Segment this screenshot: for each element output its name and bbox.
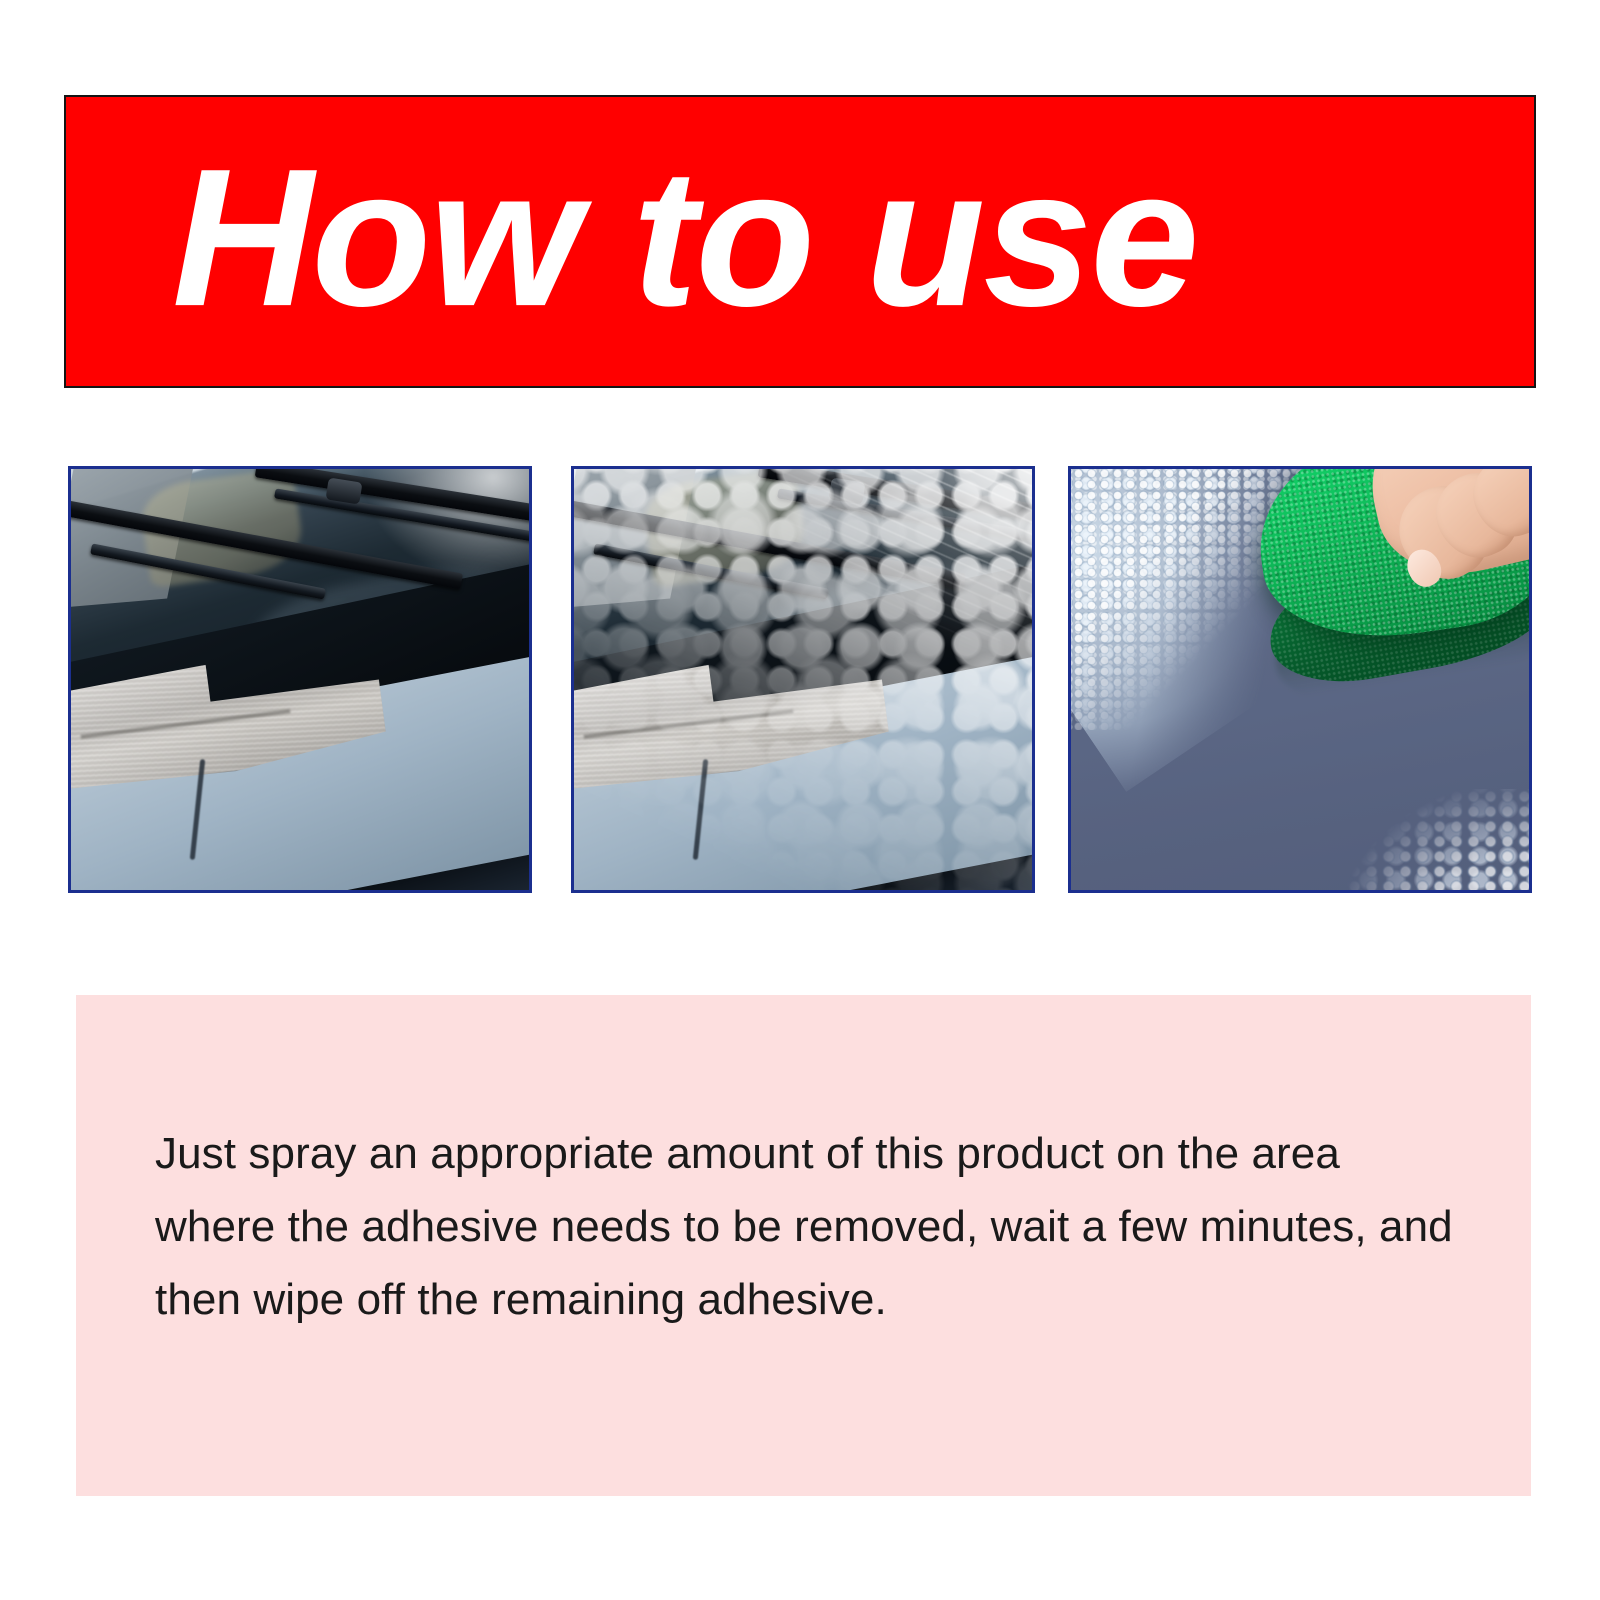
step-3-photo (1068, 466, 1532, 893)
foam-bubbles-bottom-right (1346, 789, 1529, 890)
step-2-photo (571, 466, 1035, 893)
spray-droplets (574, 469, 1032, 890)
wipe-off-illustration (1071, 469, 1529, 890)
step-1-photo (68, 466, 532, 893)
wiper-pivot-knuckle (326, 477, 363, 504)
page-title: How to use (172, 140, 1197, 336)
step-photo-strip (68, 466, 1532, 893)
instruction-note-card: Just spray an appropriate amount of this… (76, 995, 1531, 1496)
how-to-use-banner: How to use (64, 95, 1536, 388)
how-to-use-infographic: { "banner": { "title": "How to use", "ba… (0, 0, 1600, 1600)
instruction-text: Just spray an appropriate amount of this… (155, 1117, 1455, 1336)
spray-application-illustration (574, 469, 1032, 890)
windshield-residue-illustration (71, 469, 529, 890)
